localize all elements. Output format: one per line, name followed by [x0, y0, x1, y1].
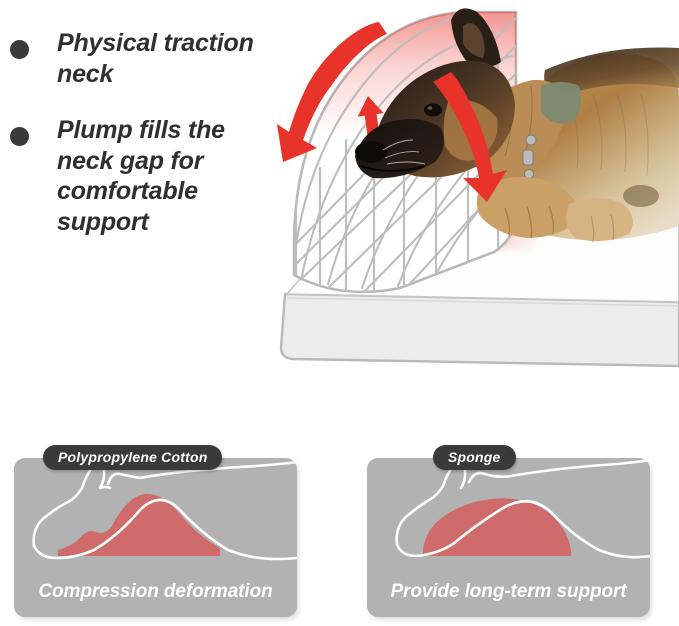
feature-highlight-section: Physical traction neck Plump fills the n…: [0, 0, 679, 420]
comparison-panel-polypropylene: Polypropylene Cotton Compression deforma…: [14, 458, 297, 617]
material-comparison-section: Polypropylene Cotton Compression deforma…: [0, 440, 679, 626]
comparison-panel-sponge: Sponge Provide long-term support: [367, 458, 650, 617]
dog-photo: [355, 0, 679, 270]
dog-on-collapsed-cushion-illustration: [14, 458, 297, 578]
product-illustration: [255, 0, 679, 420]
bullet-dot-icon: [10, 127, 29, 146]
panel-badge: Polypropylene Cotton: [43, 445, 222, 470]
panel-caption: Compression deformation: [14, 581, 297, 603]
panel-caption: Provide long-term support: [367, 581, 650, 603]
panel-badge: Sponge: [433, 445, 516, 470]
bullet-dot-icon: [10, 40, 29, 59]
dog-on-supportive-cushion-illustration: [367, 458, 650, 578]
